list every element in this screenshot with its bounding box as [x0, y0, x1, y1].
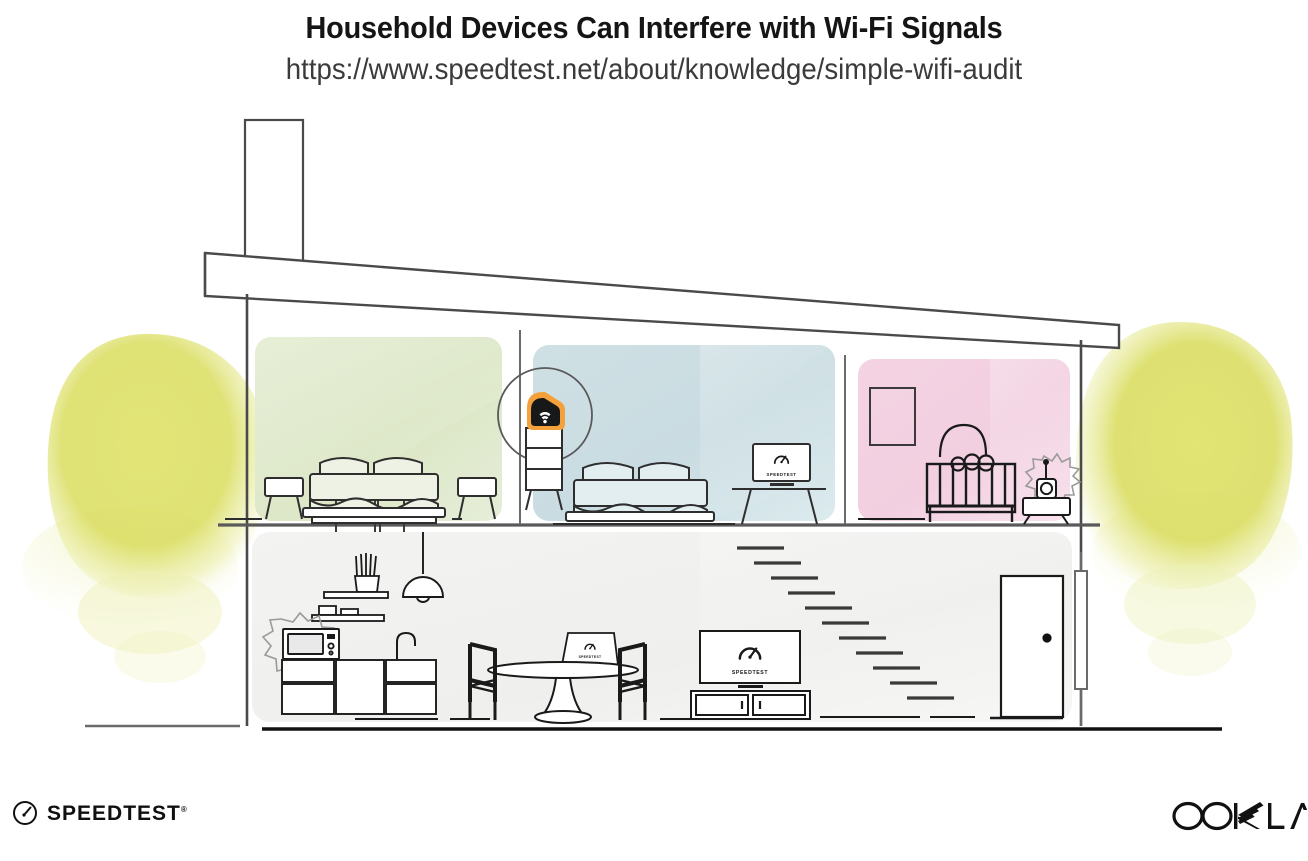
- monitor-screen-label: SPEEDTEST: [766, 472, 796, 477]
- ookla-wordmark: [1168, 796, 1308, 836]
- ground-floor: SPEEDTEST: [252, 532, 1087, 726]
- house-illustration: SPEEDTEST: [0, 112, 1308, 752]
- room-pink-nursery: [858, 359, 1080, 524]
- microwave: [283, 629, 339, 659]
- front-door: [990, 576, 1063, 718]
- kitchen-shelf-lower: [312, 615, 384, 621]
- foliage-left: [22, 334, 267, 683]
- monitor-speedtest-bedroom: SPEEDTEST: [753, 444, 810, 486]
- ookla-k-rays: [1234, 802, 1264, 829]
- speedtest-wordmark-text: SPEEDTEST: [47, 802, 181, 825]
- infographic-page: Household Devices Can Interfere with Wi-…: [0, 0, 1308, 861]
- tv-screen-label: SPEEDTEST: [732, 670, 768, 676]
- tall-window: [1075, 552, 1087, 726]
- house-cutaway-svg: SPEEDTEST: [0, 112, 1308, 752]
- kitchen-counters: [282, 660, 436, 714]
- speedtest-logo[interactable]: SPEEDTEST®: [12, 800, 187, 826]
- source-url: https://www.speedtest.net/about/knowledg…: [52, 46, 1255, 88]
- header: Household Devices Can Interfere with Wi-…: [0, 0, 1308, 87]
- ookla-logo[interactable]: [1168, 796, 1308, 836]
- footer: SPEEDTEST®: [0, 786, 1308, 846]
- room-green-bedroom: [225, 337, 502, 565]
- kitchen-shelf-upper: [324, 592, 388, 598]
- media-console: [691, 691, 810, 719]
- ookla-la: [1268, 803, 1307, 829]
- speedtest-wordmark: SPEEDTEST®: [47, 803, 187, 824]
- speedtest-gauge-icon: [12, 800, 38, 826]
- roof-slab: [205, 253, 1119, 348]
- speedtest-trademark: ®: [181, 805, 187, 814]
- chimney: [245, 120, 303, 270]
- page-title: Household Devices Can Interfere with Wi-…: [46, 0, 1262, 46]
- room-blue-bedroom: SPEEDTEST: [498, 345, 835, 524]
- television-speedtest: SPEEDTEST: [700, 631, 800, 688]
- foliage-right: [1076, 322, 1300, 676]
- door-knob: [1042, 633, 1051, 642]
- laptop-screen-label: SPEEDTEST: [579, 655, 602, 659]
- ground-line: [85, 726, 1222, 729]
